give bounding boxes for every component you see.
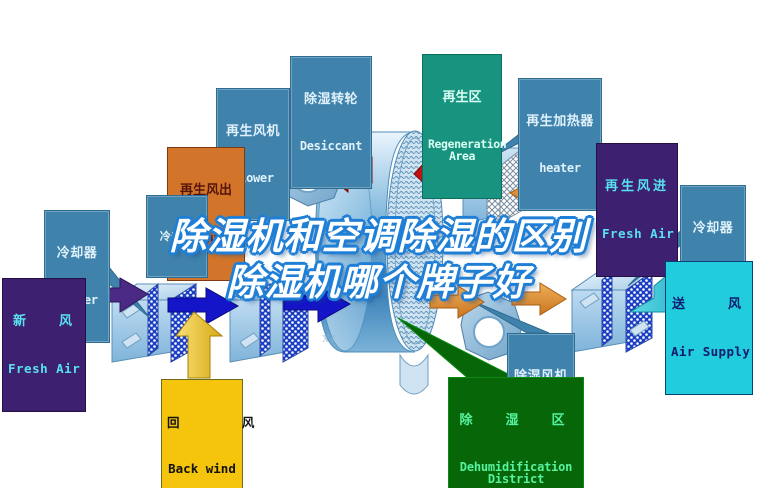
label-air-supply-en: Air Supply	[671, 345, 747, 358]
label-cooler-right-cn: 冷却器	[686, 222, 740, 236]
dry-air-arrow-2	[512, 283, 566, 315]
label-cooler-left-upper-cn: 冷却器	[150, 231, 204, 243]
label-regeneration-fresh-air-en: Fresh Air	[602, 227, 672, 240]
label-regeneration-area[interactable]: 再生区 Regeneration Area	[422, 54, 502, 199]
label-regeneration-fresh-air-cn: 再生风进	[602, 180, 672, 194]
label-regeneration-area-en: Regeneration Area	[428, 138, 496, 162]
label-back-wind[interactable]: 回 风 Back wind	[161, 379, 243, 488]
label-cooler-left-upper[interactable]: 冷却器	[146, 195, 208, 278]
watermark: xr	[322, 330, 338, 347]
label-regeneration-fresh-air[interactable]: 再生风进 Fresh Air	[596, 143, 678, 277]
label-desiccant-wheel[interactable]: 除湿转轮 Desiccant	[290, 56, 372, 189]
label-desiccant-wheel-cn: 除湿转轮	[296, 93, 366, 107]
label-back-wind-en: Back wind	[167, 462, 237, 475]
label-cooler-left-cn: 冷却器	[50, 247, 104, 261]
label-desiccant-wheel-en: Desiccant	[296, 140, 366, 153]
label-regeneration-blower-cn: 再生风机	[222, 125, 284, 139]
label-back-wind-cn: 回 风	[167, 416, 237, 429]
label-air-supply[interactable]: 送 风 Air Supply	[665, 261, 753, 395]
label-regeneration-heater-cn: 再生加热器	[524, 115, 596, 129]
label-fresh-air-inlet-en: Fresh Air	[8, 362, 80, 375]
diagram-canvas: 除湿转轮 Desiccant 再生风机 Blower 再生区 Regenerat…	[0, 0, 757, 488]
label-regeneration-heater-en: heater	[524, 162, 596, 175]
label-fresh-air-inlet[interactable]: 新 风 Fresh Air	[2, 278, 86, 412]
label-dehumidification-district-en: Dehumidification District	[454, 461, 578, 486]
label-regeneration-area-cn: 再生区	[428, 91, 496, 105]
label-regeneration-heater[interactable]: 再生加热器 heater	[518, 78, 602, 211]
label-air-supply-cn: 送 风	[671, 298, 747, 312]
label-fresh-air-inlet-cn: 新 风	[8, 315, 80, 329]
label-dehumidification-district[interactable]: 除 湿 区 Dehumidification District	[448, 377, 584, 488]
label-dehumidification-district-cn: 除 湿 区	[454, 414, 578, 428]
